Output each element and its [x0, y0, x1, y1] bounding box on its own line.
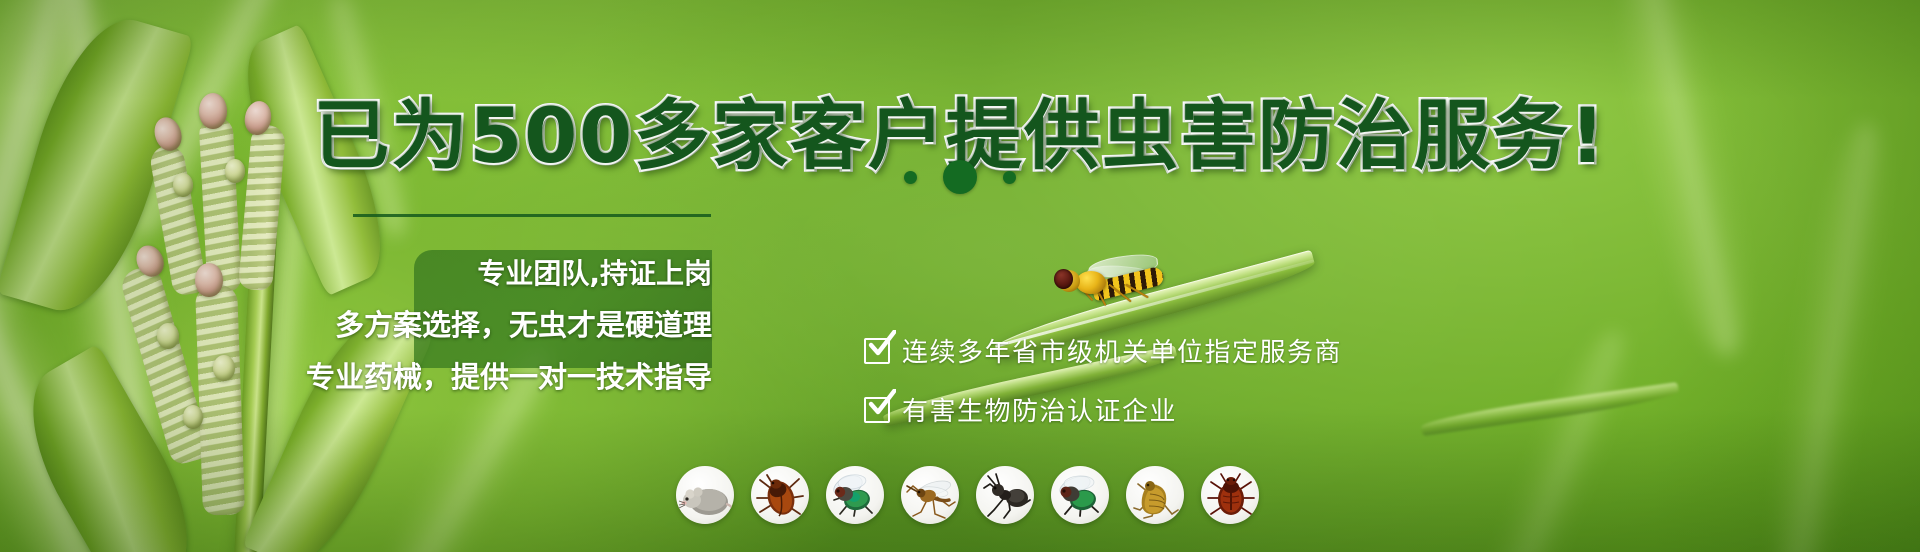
panel-line-2: 多方案选择，无虫才是硬道理: [335, 302, 712, 344]
feature-bullet-label: 有害生物防治认证企业: [902, 391, 1177, 428]
feature-bullet: 连续多年省市级机关单位指定服务商: [864, 332, 1342, 369]
feature-bullet: 有害生物防治认证企业: [864, 391, 1342, 428]
hoverfly-icon: [1040, 252, 1170, 312]
rat-icon[interactable]: [676, 466, 734, 524]
pest-icon-row: [676, 466, 1259, 524]
blowfly-icon[interactable]: [826, 466, 884, 524]
mosquito-icon[interactable]: [901, 466, 959, 524]
fly-thorax: [1076, 271, 1106, 294]
checkbox-checked-icon: [864, 397, 890, 423]
bedbug-icon[interactable]: [1201, 466, 1259, 524]
decorative-dots: [0, 160, 1920, 194]
dot-large-icon: [943, 160, 977, 194]
dot-small-icon: [1003, 171, 1016, 184]
panel-line-3: 专业药械，提供一对一技术指导: [306, 354, 712, 396]
flea-icon[interactable]: [1126, 466, 1184, 524]
fly-eye: [1054, 269, 1073, 289]
feature-bullet-list: 连续多年省市级机关单位指定服务商 有害生物防治认证企业: [864, 332, 1342, 428]
housefly-icon[interactable]: [1051, 466, 1109, 524]
promo-banner: 已为500多家客户提供虫害防治服务! 专业团队,持证上岗 多方案选择，无虫才是硬…: [0, 0, 1920, 552]
dot-small-icon: [904, 171, 917, 184]
highlight-panel-text: 专业团队,持证上岗 多方案选择，无虫才是硬道理 专业药械，提供一对一技术指导: [340, 208, 720, 396]
ant-icon[interactable]: [976, 466, 1034, 524]
feature-bullet-label: 连续多年省市级机关单位指定服务商: [902, 332, 1342, 369]
checkbox-checked-icon: [864, 338, 890, 364]
panel-line-1: 专业团队,持证上岗: [477, 252, 712, 292]
cockroach-icon[interactable]: [751, 466, 809, 524]
